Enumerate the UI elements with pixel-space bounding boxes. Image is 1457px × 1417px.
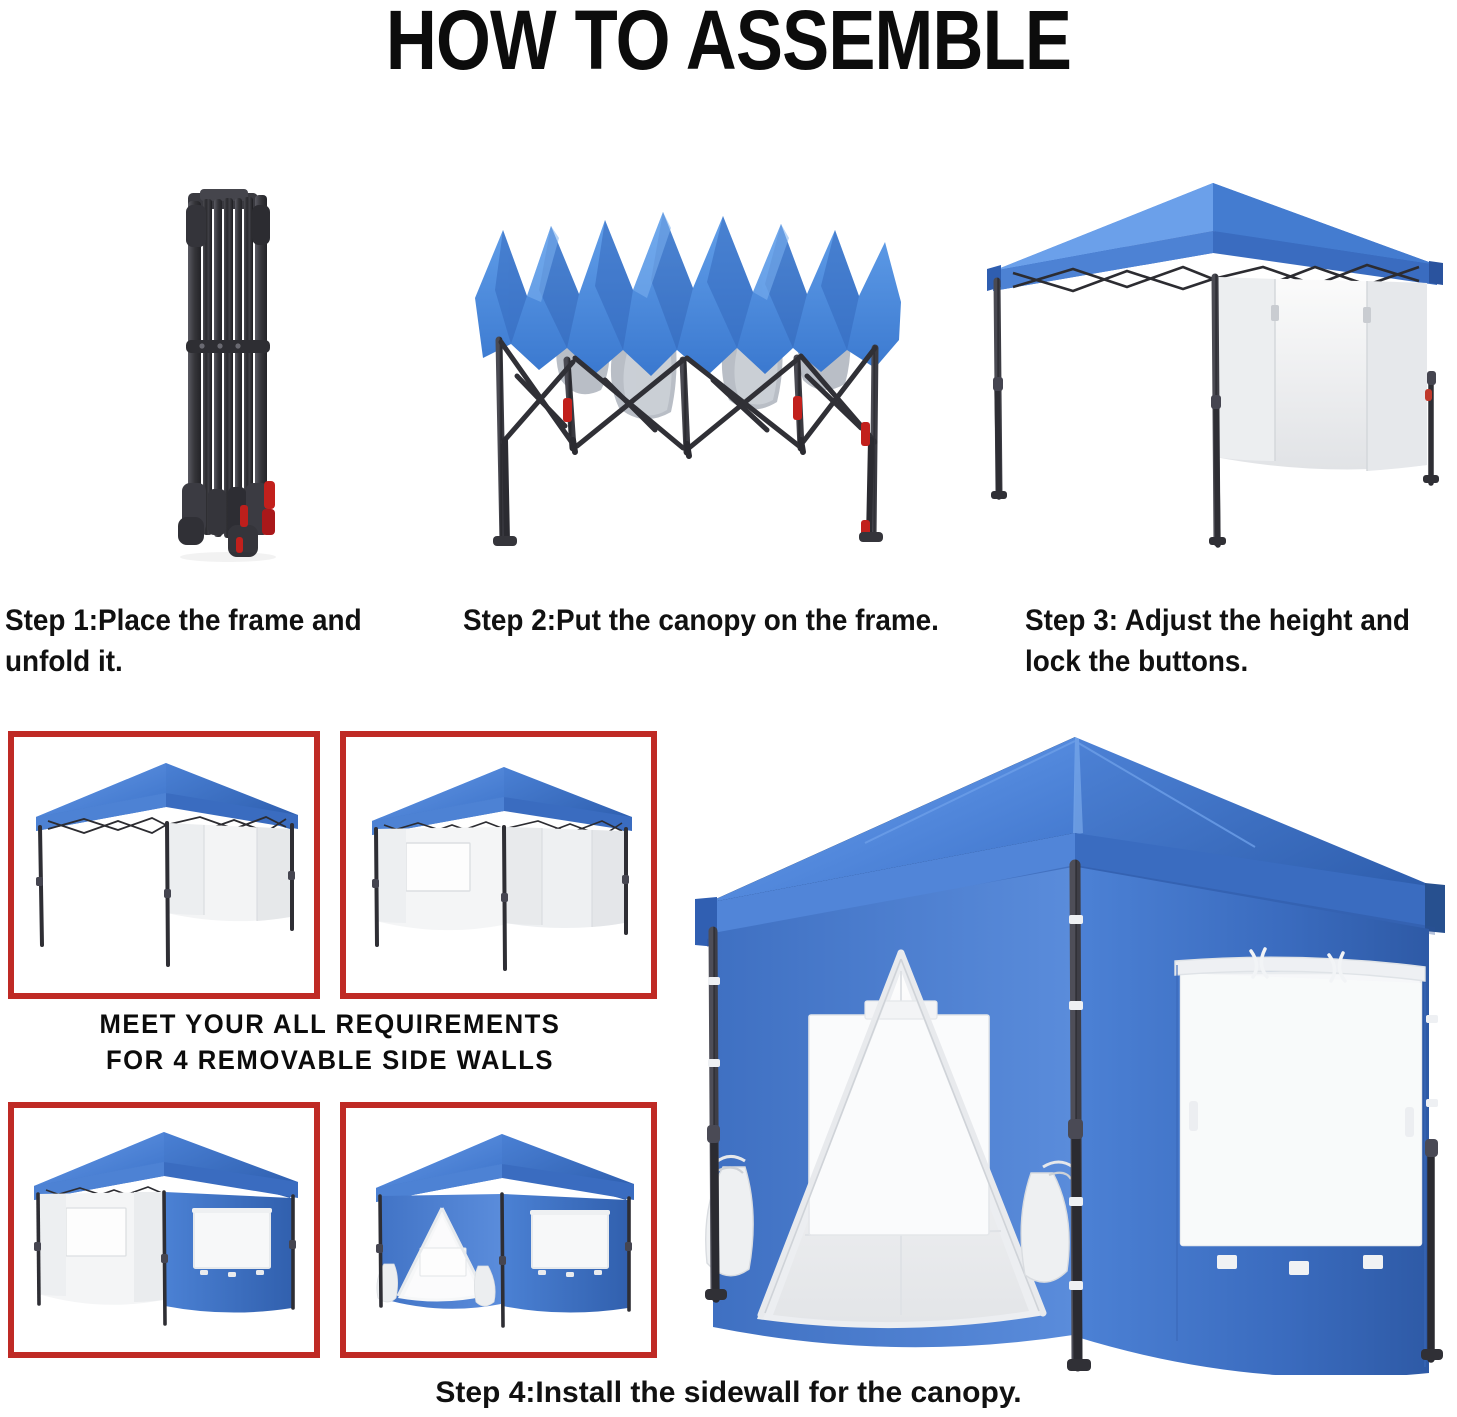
sidewall-option-2-thumbnail — [340, 731, 657, 999]
sidewall-banner-line-2: FOR 4 REMOVABLE SIDE WALLS — [45, 1042, 615, 1078]
step-4-caption: Step 4:Install the sidewall for the cano… — [0, 1372, 1457, 1413]
sidewall-banner: MEET YOUR ALL REQUIREMENTS FOR 4 REMOVAB… — [45, 1006, 615, 1078]
step-3-caption: Step 3: Adjust the height and lock the b… — [1025, 600, 1444, 682]
step-2-image — [455, 190, 915, 560]
sidewall-option-1-thumbnail — [8, 731, 320, 999]
sidewall-option-4-thumbnail — [340, 1102, 657, 1358]
step-3-image — [975, 165, 1455, 565]
step-2-caption: Step 2:Put the canopy on the frame. — [463, 600, 984, 641]
sidewall-option-3-thumbnail — [8, 1102, 320, 1358]
step-1-caption: Step 1:Place the frame and unfold it. — [5, 600, 405, 682]
step-1-image — [140, 165, 370, 565]
hero-canopy-image — [665, 715, 1457, 1375]
page-title: HOW TO ASSEMBLE — [117, 0, 1341, 86]
sidewall-banner-line-1: MEET YOUR ALL REQUIREMENTS — [45, 1006, 615, 1042]
